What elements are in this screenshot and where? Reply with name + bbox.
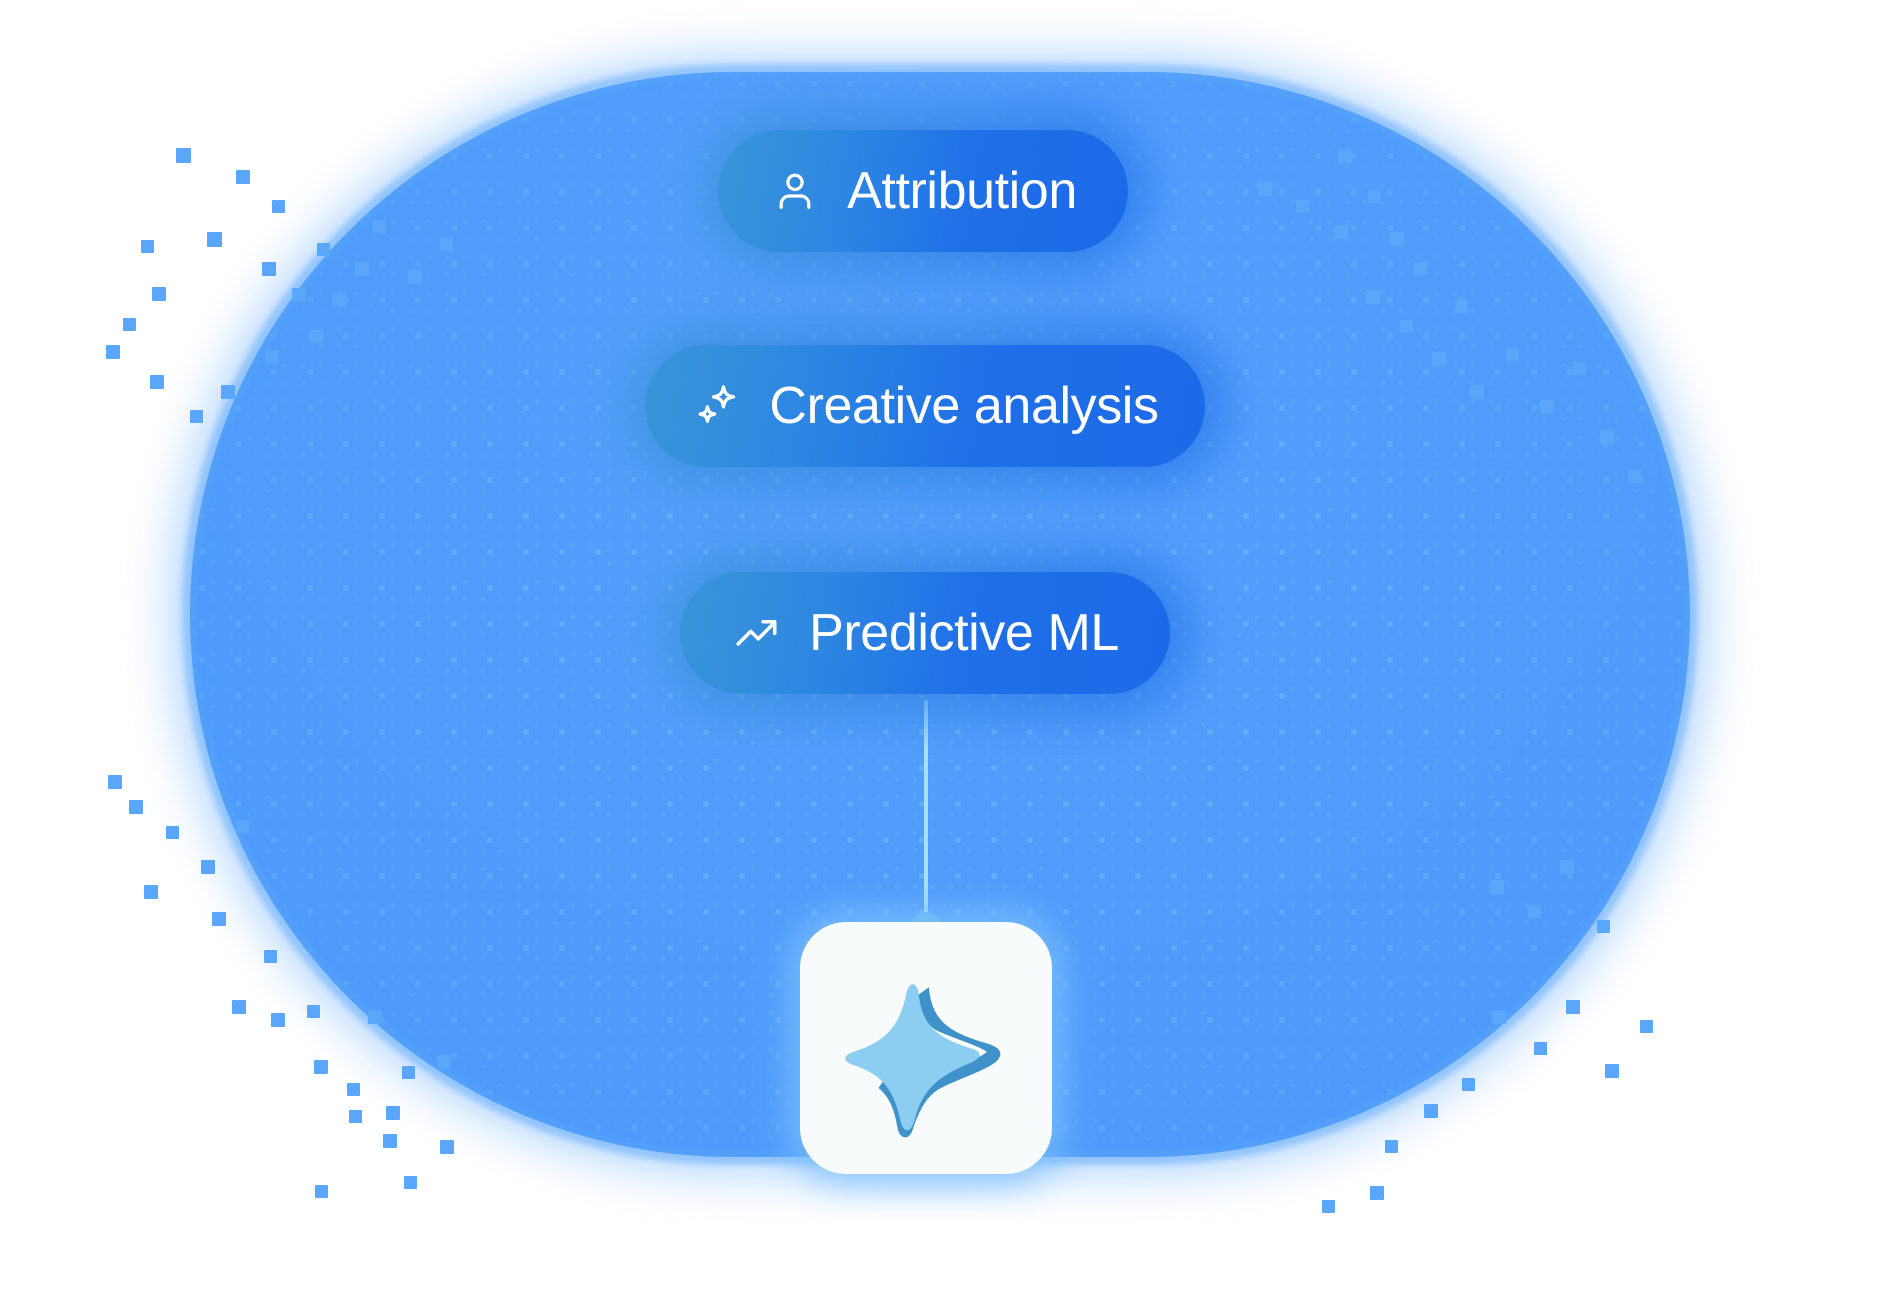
- background-particle: [368, 1010, 382, 1024]
- background-particle: [310, 330, 323, 343]
- background-particle: [373, 220, 386, 233]
- background-particle: [347, 1083, 360, 1096]
- background-particle: [1528, 905, 1541, 918]
- background-particle: [1385, 1140, 1398, 1153]
- background-particle: [1597, 920, 1610, 933]
- background-particle: [1366, 290, 1380, 304]
- background-particle: [1640, 1020, 1653, 1033]
- background-particle: [402, 1066, 415, 1079]
- background-particle: [404, 1176, 417, 1189]
- background-particle: [1492, 1010, 1506, 1024]
- background-particle: [1462, 1078, 1475, 1091]
- connector-line: [924, 700, 928, 924]
- background-particle: [129, 800, 143, 814]
- background-particle: [317, 243, 330, 256]
- background-particle: [1540, 400, 1554, 414]
- background-particle: [166, 826, 179, 839]
- background-particle: [236, 170, 250, 184]
- background-particle: [1566, 1000, 1580, 1014]
- background-particle: [1338, 150, 1352, 164]
- background-particle: [1368, 190, 1381, 203]
- background-particle: [1296, 200, 1309, 213]
- background-particle: [1560, 860, 1574, 874]
- background-particle: [232, 1000, 246, 1014]
- background-particle: [123, 318, 136, 331]
- sparkle-icon: [691, 380, 743, 432]
- background-particle: [1400, 320, 1413, 333]
- background-particle: [1506, 348, 1519, 361]
- background-particle: [190, 410, 203, 423]
- background-particle: [1322, 1200, 1335, 1213]
- background-particle: [1573, 362, 1586, 375]
- background-particle: [383, 1134, 397, 1148]
- background-particle: [440, 1140, 454, 1154]
- background-particle: [1628, 470, 1641, 483]
- background-particle: [212, 912, 226, 926]
- person-icon: [769, 165, 821, 217]
- background-particle: [271, 1013, 285, 1027]
- background-particle: [201, 860, 215, 874]
- pill-label-attribution: Attribution: [847, 165, 1077, 217]
- background-particle: [1470, 385, 1484, 399]
- background-particle: [307, 1005, 320, 1018]
- background-particle: [440, 238, 453, 251]
- star-logo-icon: [831, 953, 1021, 1143]
- background-particle: [1534, 1042, 1547, 1055]
- logo-card[interactable]: [800, 922, 1052, 1174]
- background-particle: [1490, 880, 1504, 894]
- background-particle: [349, 1110, 362, 1123]
- background-particle: [1455, 300, 1468, 313]
- diagram-canvas: Attribution Creative analysis Predictive…: [0, 0, 1878, 1290]
- background-particle: [1432, 352, 1446, 366]
- background-particle: [1414, 262, 1427, 275]
- background-particle: [262, 262, 276, 276]
- background-particle: [1334, 225, 1348, 239]
- pill-predictive-ml[interactable]: Predictive ML: [680, 572, 1170, 694]
- background-particle: [264, 950, 277, 963]
- background-particle: [1390, 232, 1404, 246]
- pill-label-predictive-ml: Predictive ML: [809, 607, 1119, 659]
- background-particle: [314, 1060, 328, 1074]
- background-particle: [386, 1106, 400, 1120]
- background-particle: [150, 375, 164, 389]
- background-particle: [144, 885, 158, 899]
- background-particle: [265, 350, 278, 363]
- pill-attribution[interactable]: Attribution: [718, 130, 1128, 252]
- pill-label-creative-analysis: Creative analysis: [769, 380, 1158, 432]
- background-particle: [176, 148, 191, 163]
- background-particle: [315, 1185, 328, 1198]
- background-particle: [1424, 1104, 1438, 1118]
- background-particle: [106, 345, 120, 359]
- background-particle: [152, 287, 166, 301]
- background-particle: [332, 293, 346, 307]
- trending-up-icon: [731, 607, 783, 659]
- background-particle: [1605, 1064, 1619, 1078]
- background-particle: [1258, 182, 1272, 196]
- background-particle: [292, 288, 306, 302]
- background-particle: [221, 385, 235, 399]
- background-particle: [408, 270, 422, 284]
- background-particle: [272, 200, 285, 213]
- background-particle: [1600, 430, 1614, 444]
- background-particle: [108, 775, 122, 789]
- background-particle: [236, 820, 249, 833]
- background-particle: [207, 232, 222, 247]
- background-particle: [1370, 1186, 1384, 1200]
- background-particle: [355, 262, 369, 276]
- pill-creative-analysis[interactable]: Creative analysis: [645, 345, 1205, 467]
- background-particle: [141, 240, 154, 253]
- background-particle: [437, 1055, 451, 1069]
